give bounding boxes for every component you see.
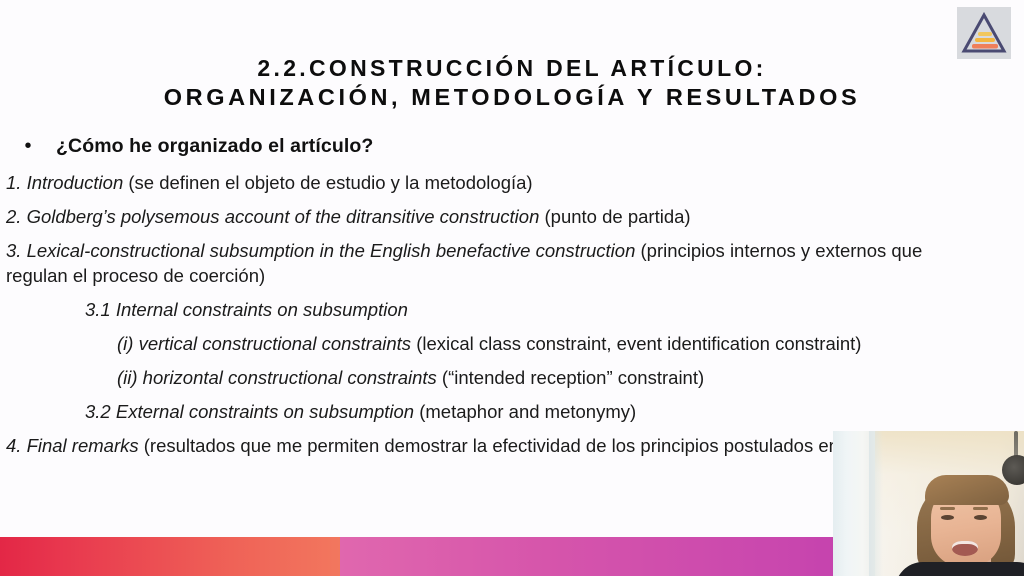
outline-item-title: 3. Lexical-constructional subsumption in…	[6, 240, 635, 261]
outline-item: 3. Lexical-constructional subsumption in…	[0, 238, 965, 288]
outline-item-note: (se definen el objeto de estudio y la me…	[123, 172, 532, 193]
outline-item: 1. Introduction (se definen el objeto de…	[0, 170, 1024, 195]
outline-item-title: 1. Introduction	[6, 172, 123, 193]
outline-item-note: (punto de partida)	[539, 206, 690, 227]
outline-item-title: 3.1 Internal constraints on subsumption	[85, 299, 408, 320]
webcam-lamp	[1002, 455, 1024, 485]
slide-title-line-1: 2.2.CONSTRUCCIÓN DEL ARTÍCULO:	[0, 54, 1024, 83]
presenter-eyebrow-left	[940, 507, 955, 510]
webcam-curtain-edge	[869, 431, 883, 576]
presentation-slide: 2.2.CONSTRUCCIÓN DEL ARTÍCULO: ORGANIZAC…	[0, 0, 1024, 576]
outline-list: 1. Introduction (se definen el objeto de…	[0, 170, 1024, 467]
outline-item: 3.1 Internal constraints on subsumption	[0, 297, 1024, 322]
outline-item: 4. Final remarks (resultados que me perm…	[0, 433, 965, 458]
presenter-shoulders	[895, 562, 1024, 576]
outline-item: 2. Goldberg’s polysemous account of the …	[0, 204, 1024, 229]
presenter-eye-right	[974, 515, 987, 520]
outline-item-note: (resultados que me permiten demostrar la…	[139, 435, 909, 456]
presenter-webcam-feed[interactable]	[833, 431, 1024, 576]
slide-title: 2.2.CONSTRUCCIÓN DEL ARTÍCULO: ORGANIZAC…	[0, 54, 1024, 112]
outline-item-title: 3.2 External constraints on subsumption	[85, 401, 414, 422]
accent-bar-segment-red	[0, 537, 340, 576]
presenter-mouth	[952, 541, 978, 556]
outline-item-note: (metaphor and metonymy)	[414, 401, 636, 422]
outline-item-note: (“intended reception” constraint)	[437, 367, 704, 388]
outline-item: (ii) horizontal constructional constrain…	[0, 365, 1024, 390]
question-row: • ¿Cómo he organizado el artículo?	[0, 132, 1024, 160]
outline-item-note: (lexical class constraint, event identif…	[411, 333, 861, 354]
outline-item: 3.2 External constraints on subsumption …	[0, 399, 1024, 424]
outline-item-title: (i) vertical constructional constraints	[117, 333, 411, 354]
question-text: ¿Cómo he organizado el artículo?	[56, 132, 373, 160]
presenter-eye-left	[941, 515, 954, 520]
outline-item-title: 4. Final remarks	[6, 435, 139, 456]
presenter-fringe	[925, 475, 1009, 505]
outline-item-title: (ii) horizontal constructional constrain…	[117, 367, 437, 388]
outline-item-title: 2. Goldberg’s polysemous account of the …	[6, 206, 539, 227]
triangle-logo	[957, 7, 1011, 59]
presenter-eyebrow-right	[973, 507, 988, 510]
bullet-icon: •	[0, 132, 56, 160]
outline-item: (i) vertical constructional constraints …	[0, 331, 1024, 356]
slide-title-line-2: ORGANIZACIÓN, METODOLOGÍA Y RESULTADOS	[0, 83, 1024, 112]
